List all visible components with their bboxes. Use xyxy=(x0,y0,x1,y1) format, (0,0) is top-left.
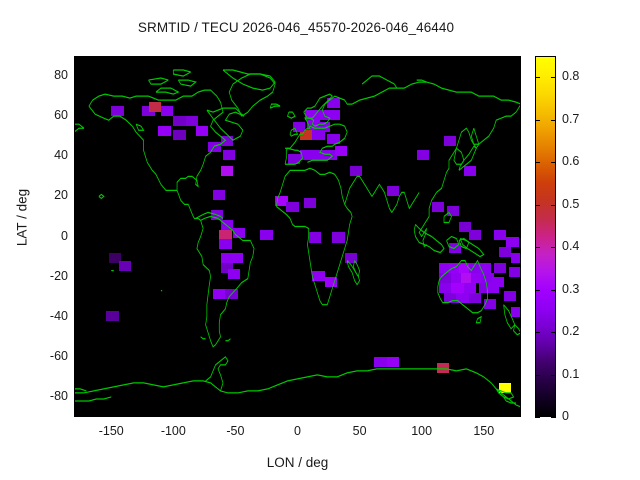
map-plot-area xyxy=(74,56,521,417)
x-tick-mark xyxy=(360,412,361,417)
x-tick-label: 150 xyxy=(454,424,514,438)
colorbar xyxy=(535,56,556,417)
x-axis-title: LON / deg xyxy=(74,455,521,470)
y-tick-label: -40 xyxy=(22,309,68,323)
colorbar-tick-mark xyxy=(535,332,540,333)
y-tick-mark xyxy=(74,317,79,318)
colorbar-tick-label: 0.6 xyxy=(562,154,579,168)
colorbar-tick-label: 0.7 xyxy=(562,112,579,126)
colorbar-tick-mark xyxy=(535,120,540,121)
colorbar-tick-label: 0.2 xyxy=(562,324,579,338)
x-tick-mark xyxy=(235,412,236,417)
colorbar-tick-mark xyxy=(551,375,556,376)
colorbar-tick-label: 0.1 xyxy=(562,367,579,381)
x-tick-label: 100 xyxy=(392,424,452,438)
colorbar-tick-mark xyxy=(535,417,540,418)
colorbar-tick-mark xyxy=(551,247,556,248)
colorbar-tick-mark xyxy=(535,205,540,206)
colorbar-tick-mark xyxy=(551,290,556,291)
colorbar-tick-label: 0.4 xyxy=(562,239,579,253)
colorbar-tick-mark xyxy=(551,332,556,333)
colorbar-tick-mark xyxy=(535,247,540,248)
colorbar-tick-mark xyxy=(551,417,556,418)
colorbar-gradient xyxy=(536,57,555,416)
y-axis-title: LAT / deg xyxy=(15,158,30,278)
x-tick-label: -150 xyxy=(81,424,141,438)
x-tick-label: -100 xyxy=(143,424,203,438)
y-tick-label: 80 xyxy=(22,68,68,82)
x-tick-mark xyxy=(173,412,174,417)
colorbar-tick-label: 0.3 xyxy=(562,282,579,296)
colorbar-tick-label: 0.8 xyxy=(562,69,579,83)
colorbar-tick-mark xyxy=(551,77,556,78)
x-tick-mark xyxy=(422,412,423,417)
y-tick-mark xyxy=(74,357,79,358)
y-tick-mark xyxy=(74,156,79,157)
x-tick-label: -50 xyxy=(205,424,265,438)
x-tick-mark xyxy=(298,412,299,417)
y-tick-mark xyxy=(74,116,79,117)
colorbar-tick-mark xyxy=(535,162,540,163)
colorbar-tick-mark xyxy=(535,77,540,78)
y-tick-mark xyxy=(74,397,79,398)
y-tick-mark xyxy=(74,196,79,197)
plot-window: SRMTID / TECU 2026-046_45570-2026-046_46… xyxy=(0,0,640,480)
x-tick-mark xyxy=(484,412,485,417)
colorbar-tick-mark xyxy=(551,205,556,206)
y-tick-mark xyxy=(74,237,79,238)
colorbar-tick-mark xyxy=(551,162,556,163)
y-tick-label: -60 xyxy=(22,349,68,363)
colorbar-tick-mark xyxy=(535,375,540,376)
colorbar-tick-label: 0.5 xyxy=(562,197,579,211)
y-tick-label: -80 xyxy=(22,389,68,403)
x-tick-label: 0 xyxy=(268,424,328,438)
coastline-overlay xyxy=(74,56,521,417)
y-tick-mark xyxy=(74,76,79,77)
x-tick-label: 50 xyxy=(330,424,390,438)
page-title: SRMTID / TECU 2026-046_45570-2026-046_46… xyxy=(0,20,592,35)
y-tick-label: 60 xyxy=(22,108,68,122)
colorbar-tick-label: 0 xyxy=(562,409,569,423)
y-tick-mark xyxy=(74,277,79,278)
x-tick-mark xyxy=(111,412,112,417)
colorbar-tick-mark xyxy=(551,120,556,121)
colorbar-tick-mark xyxy=(535,290,540,291)
